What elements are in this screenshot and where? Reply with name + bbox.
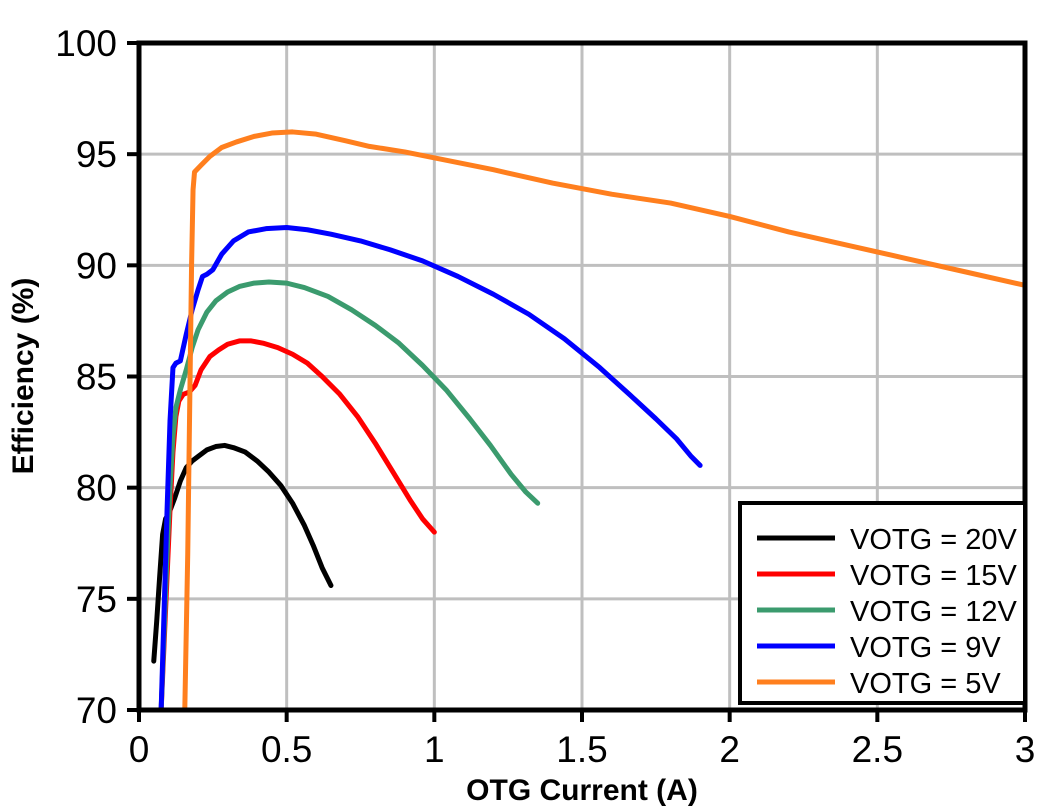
legend: VOTG = 20VVOTG = 15VVOTG = 12VVOTG = 9VV… — [740, 503, 1025, 703]
y-axis-ticks: 707580859095100 — [55, 23, 139, 731]
legend-label-3: VOTG = 9V — [850, 632, 1001, 664]
y-tick-label: 100 — [55, 23, 117, 64]
x-tick-label: 1.5 — [556, 729, 607, 770]
x-tick-label: 0.5 — [261, 729, 312, 770]
x-tick-label: 0 — [129, 729, 150, 770]
legend-label-4: VOTG = 5V — [850, 668, 1001, 700]
legend-label-2: VOTG = 12V — [850, 596, 1017, 628]
y-tick-label: 70 — [76, 690, 117, 731]
x-tick-label: 2.5 — [852, 729, 903, 770]
y-tick-label: 95 — [76, 134, 117, 175]
efficiency-chart: 00.511.522.53 707580859095100 OTG Curren… — [0, 0, 1053, 812]
x-axis-title: OTG Current (A) — [466, 774, 698, 807]
y-tick-label: 75 — [76, 579, 117, 620]
x-tick-label: 1 — [424, 729, 445, 770]
legend-label-1: VOTG = 15V — [850, 560, 1017, 592]
x-axis-ticks: 00.511.522.53 — [129, 710, 1036, 770]
x-tick-label: 3 — [1015, 729, 1036, 770]
y-tick-label: 85 — [76, 357, 117, 398]
y-axis-title: Efficiency (%) — [7, 278, 40, 475]
y-tick-label: 80 — [76, 468, 117, 509]
x-tick-label: 2 — [719, 729, 740, 770]
plot-svg: 00.511.522.53 707580859095100 OTG Curren… — [0, 0, 1053, 812]
y-tick-label: 90 — [76, 245, 117, 286]
legend-label-0: VOTG = 20V — [850, 524, 1017, 556]
